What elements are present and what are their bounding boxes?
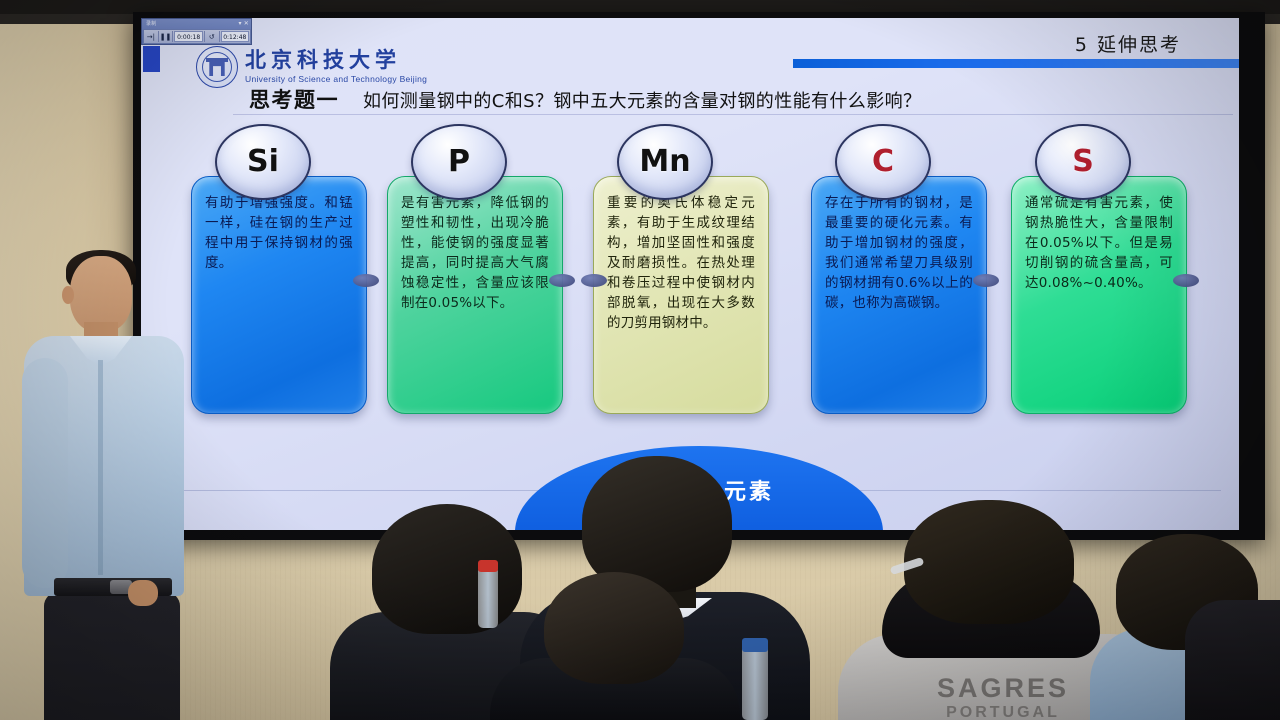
recorder-title: 录制 <box>146 20 156 27</box>
reset-icon[interactable]: ↺ <box>205 33 219 41</box>
divider <box>172 31 173 42</box>
element-card: 重要的奥氏体稳定元素，有助于生成纹理结构，增加坚固性和强度及耐磨损性。在热处理和… <box>593 176 769 414</box>
card-knob <box>353 274 379 287</box>
element-description: 通常硫是有害元素，使钢热脆性大，含量限制在0.05%以下。但是易切削钢的硫含量高… <box>1025 193 1173 293</box>
audience-member-6 <box>1185 600 1280 720</box>
presentation-slide: 录制 ▾ ✕ →| ❚❚ 0:00:18 ↺ 0:12:48 <box>141 18 1239 530</box>
card-knob <box>1173 274 1199 287</box>
lecture-hall-photo: 录制 ▾ ✕ →| ❚❚ 0:00:18 ↺ 0:12:48 <box>0 0 1280 720</box>
element-symbol: Si <box>247 147 279 177</box>
element-bubble-c: C <box>835 124 931 200</box>
divider <box>219 31 220 42</box>
element-card: 是有害元素，降低钢的塑性和韧性，出现冷脆性，能使钢的强度显著提高，同时提高大气腐… <box>387 176 563 414</box>
audience-head <box>544 572 684 684</box>
university-seal-icon <box>196 46 238 88</box>
water-bottle <box>742 642 768 720</box>
question-tag: 思考题一 <box>249 84 339 114</box>
slide-title-row: 思考题一 如何测量钢中的C和S？钢中五大元素的含量对钢的性能有什么影响？ <box>249 84 1229 114</box>
element-cards-row: 有助于增强强度。和锰一样，硅在钢的生产过程中用于保持钢材的强度。 Si 是有害元… <box>191 124 1201 420</box>
bottle-cap <box>478 560 498 572</box>
element-description: 存在于所有的钢材，是最重要的硬化元素。有助于增加钢材的强度，我们通常希望刀具级别… <box>825 193 973 313</box>
element-bubble-p: P <box>411 124 507 200</box>
element-column-mn: 重要的奥氏体稳定元素，有助于生成纹理结构，增加坚固性和强度及耐磨损性。在热处理和… <box>593 124 769 420</box>
element-symbol: S <box>1072 147 1094 177</box>
element-description: 重要的奥氏体稳定元素，有助于生成纹理结构，增加坚固性和强度及耐磨损性。在热处理和… <box>607 193 755 333</box>
audience-member-3 <box>490 602 740 720</box>
close-icon[interactable]: ✕ <box>244 21 249 27</box>
element-description: 是有害元素，降低钢的塑性和韧性，出现冷脆性，能使钢的强度显著提高，同时提高大气腐… <box>401 193 549 313</box>
presenter-head <box>70 256 132 332</box>
recorder-controls[interactable]: →| ❚❚ 0:00:18 ↺ 0:12:48 <box>143 29 251 44</box>
element-column-p: 是有害元素，降低钢的塑性和韧性，出现冷脆性，能使钢的强度显著提高，同时提高大气腐… <box>387 124 563 420</box>
element-symbol: P <box>448 147 470 177</box>
element-card: 有助于增强强度。和锰一样，硅在钢的生产过程中用于保持钢材的强度。 <box>191 176 367 414</box>
total-time: 0:12:48 <box>221 31 249 42</box>
element-card: 通常硫是有害元素，使钢热脆性大，含量限制在0.05%以下。但是易切削钢的硫含量高… <box>1011 176 1187 414</box>
card-knob <box>581 274 607 287</box>
element-symbol: Mn <box>639 147 690 177</box>
element-bubble-s: S <box>1035 124 1131 200</box>
element-symbol: C <box>872 147 894 177</box>
presenter-shirt-placket <box>98 360 103 575</box>
element-bubble-mn: Mn <box>617 124 713 200</box>
element-column-si: 有助于增强强度。和锰一样，硅在钢的生产过程中用于保持钢材的强度。 Si <box>191 124 367 420</box>
element-column-c: 存在于所有的钢材，是最重要的硬化元素。有助于增加钢材的强度，我们通常希望刀具级别… <box>811 124 987 420</box>
card-knob <box>549 274 575 287</box>
element-bubble-si: Si <box>215 124 311 200</box>
title-divider <box>233 114 1233 115</box>
bottle-cap <box>742 638 768 652</box>
recorder-titlebar: 录制 ▾ ✕ <box>144 19 251 28</box>
minimize-icon[interactable]: ▾ <box>239 21 242 27</box>
presenter-hand <box>128 580 158 606</box>
section-label: 5 延伸思考 <box>1075 30 1181 57</box>
audience-shoulders <box>1185 600 1280 720</box>
element-card: 存在于所有的钢材，是最重要的硬化元素。有助于增加钢材的强度，我们通常希望刀具级别… <box>811 176 987 414</box>
university-name-cn: 北京科技大学 <box>245 50 427 71</box>
university-logo: 北京科技大学 University of Science and Technol… <box>196 46 427 88</box>
element-column-s: 通常硫是有害元素，使钢热脆性大，含量限制在0.05%以下。但是易切削钢的硫含量高… <box>1011 124 1187 420</box>
question-text: 如何测量钢中的C和S？钢中五大元素的含量对钢的性能有什么影响？ <box>363 87 921 113</box>
presenter-trousers <box>44 592 180 720</box>
element-description: 有助于增强强度。和锰一样，硅在钢的生产过程中用于保持钢材的强度。 <box>205 193 353 273</box>
screen-recorder-toolbar[interactable]: 录制 ▾ ✕ →| ❚❚ 0:00:18 ↺ 0:12:48 <box>141 18 252 45</box>
section-accent-bar <box>793 59 1239 68</box>
elapsed-time: 0:00:18 <box>174 31 202 42</box>
step-icon[interactable]: →| <box>144 33 158 41</box>
university-name-en: University of Science and Technology Bei… <box>245 74 427 84</box>
seal-gate-glyph <box>206 58 228 76</box>
card-knob <box>973 274 999 287</box>
audience-head <box>904 500 1074 624</box>
presenter-arm <box>22 358 68 588</box>
presenter <box>18 248 188 720</box>
slide-corner-mark <box>143 46 160 72</box>
presenter-ear <box>62 286 74 304</box>
pause-icon[interactable]: ❚❚ <box>159 33 173 41</box>
